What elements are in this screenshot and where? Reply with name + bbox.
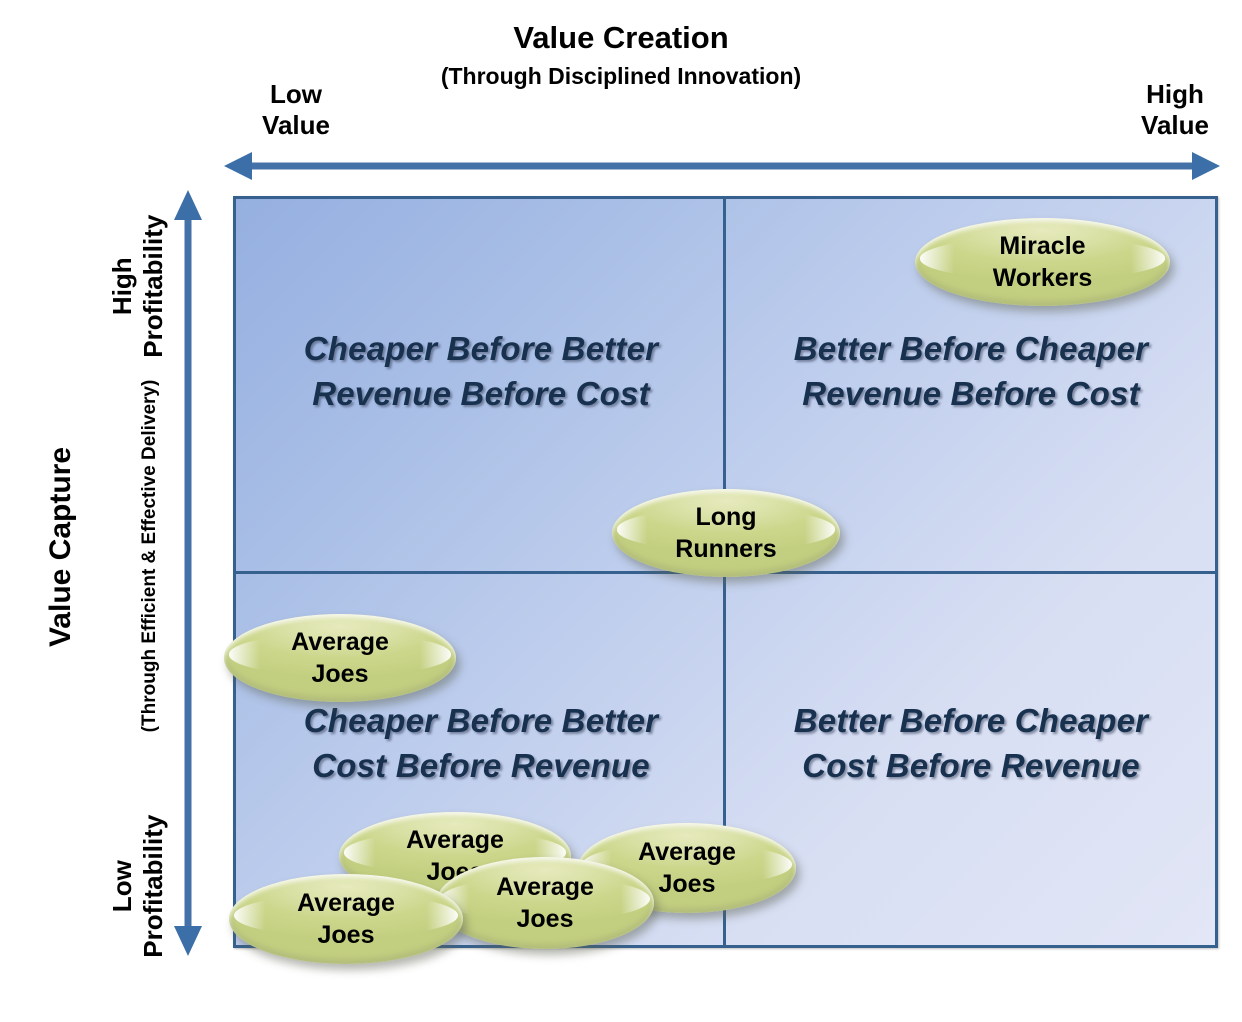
page-title: Value Creation: [0, 20, 1242, 56]
bubble-average-joes-4-label: Average Joes: [496, 871, 594, 935]
y-axis-low-label: Low Profitability: [107, 776, 169, 996]
quadrant-label-bottom-left: Cheaper Before Better Cost Before Revenu…: [246, 699, 716, 789]
bubble-miracle-workers[interactable]: Miracle Workers: [915, 218, 1170, 306]
x-axis-high-label: High Value: [1110, 79, 1240, 140]
y-axis-subtitle: (Through Efficient & Effective Delivery): [139, 346, 161, 766]
bubble-average-joes-1[interactable]: Average Joes: [224, 614, 456, 702]
quadrant-label-top-right: Better Before Cheaper Revenue Before Cos…: [736, 327, 1206, 417]
bubble-average-joes-1-label: Average Joes: [291, 626, 389, 690]
y-axis-high-label: High Profitability: [107, 176, 169, 396]
bubble-average-joes-3-label: Average Joes: [638, 836, 736, 900]
bubble-average-joes-5-label: Average Joes: [297, 887, 395, 951]
vertical-axis-arrow: [172, 190, 204, 956]
bubble-long-runners-label: Long Runners: [675, 501, 776, 565]
bubble-long-runners[interactable]: Long Runners: [612, 489, 840, 577]
bubble-average-joes-4[interactable]: Average Joes: [436, 857, 654, 949]
x-axis-low-label: Low Value: [226, 79, 366, 140]
diagram-canvas: Value Creation (Through Disciplined Inno…: [0, 0, 1242, 1022]
bubble-average-joes-5[interactable]: Average Joes: [229, 874, 463, 964]
bubble-miracle-workers-label: Miracle Workers: [993, 230, 1093, 294]
horizontal-axis-arrow: [224, 150, 1220, 182]
y-axis-title: Value Capture: [44, 422, 78, 672]
page-subtitle: (Through Disciplined Innovation): [0, 63, 1242, 90]
quadrant-label-bottom-right: Better Before Cheaper Cost Before Revenu…: [736, 699, 1206, 789]
quadrant-label-top-left: Cheaper Before Better Revenue Before Cos…: [246, 327, 716, 417]
